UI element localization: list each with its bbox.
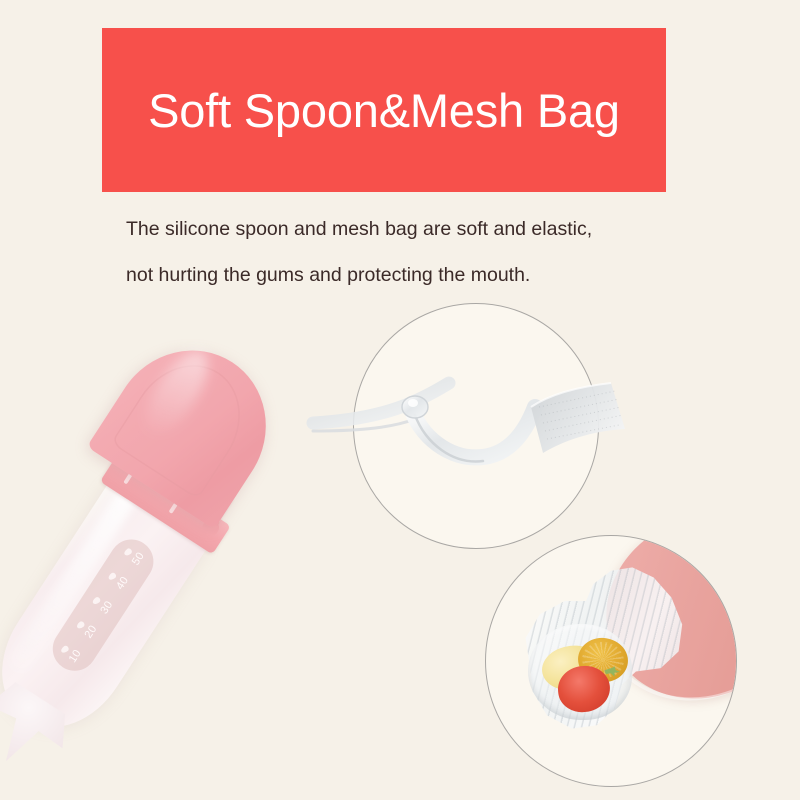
droplet-icon	[91, 596, 101, 606]
inset-circle-flex-spoon	[353, 303, 599, 549]
main-product-spoon-bottle: 50 40 30 20	[60, 390, 400, 770]
droplet-icon	[76, 620, 86, 630]
product-photo-scene: 50 40 30 20	[0, 0, 800, 800]
measure-label: 50	[130, 550, 147, 567]
spoon-flex-joint	[402, 396, 428, 418]
flex-spoon-illustration	[353, 303, 597, 547]
spoon-handle	[531, 383, 625, 453]
droplet-icon	[60, 645, 70, 655]
spoon-bowl-curve	[411, 407, 535, 457]
joint-highlight	[408, 399, 418, 407]
flex-spoon-svg	[353, 303, 597, 547]
droplet-icon	[123, 547, 133, 557]
mesh-bag-illustration	[486, 536, 736, 786]
spoon-assembly: 50 40 30 20	[0, 334, 397, 800]
measure-label: 30	[98, 599, 115, 616]
product-detail-image: Soft Spoon&Mesh Bag The silicone spoon a…	[0, 0, 800, 800]
measure-label: 20	[83, 623, 100, 640]
inset-circle-mesh-bag	[485, 535, 737, 787]
measure-label: 10	[67, 648, 84, 665]
droplet-icon	[107, 572, 117, 582]
measure-label: 40	[114, 575, 131, 592]
